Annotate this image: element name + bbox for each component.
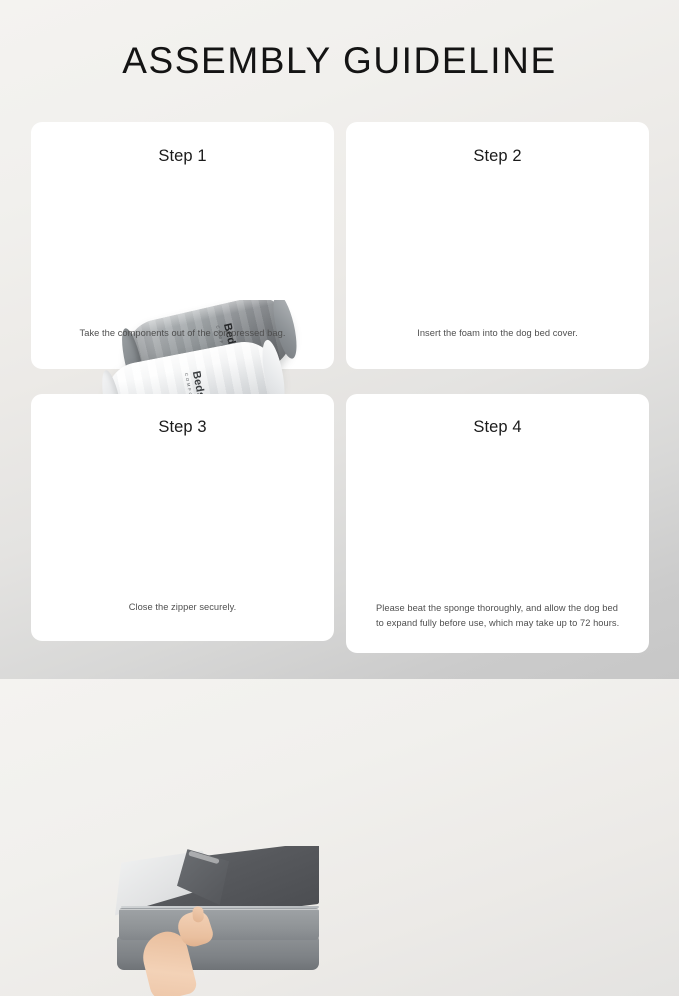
bed-side-panel xyxy=(119,908,319,940)
step-card-2: Step 2 Insert the foam into the dog bed … xyxy=(346,122,649,369)
step-3-caption: Close the zipper securely. xyxy=(45,600,320,615)
step-1-title: Step 1 xyxy=(31,147,334,166)
step-1-caption: Take the components out of the compresse… xyxy=(45,326,320,341)
step-4-caption: Please beat the sponge thoroughly, and a… xyxy=(376,601,624,631)
step-4-title: Step 4 xyxy=(346,418,649,437)
zipper-line xyxy=(121,906,319,908)
page-title: ASSEMBLY GUIDELINE xyxy=(0,40,679,82)
close-zipper-illustration xyxy=(93,846,333,996)
step-card-4: Step 4 Please beat the sponge thoroughly… xyxy=(346,394,649,653)
step-card-3: Step 3 Close the zipper securely. xyxy=(31,394,334,641)
step-3-title: Step 3 xyxy=(31,418,334,437)
step-2-caption: Insert the foam into the dog bed cover. xyxy=(360,326,635,341)
step-2-title: Step 2 xyxy=(346,147,649,166)
step-card-1: Step 1 Bedsure COMFORT Bedsure COMFORT T… xyxy=(31,122,334,369)
assembly-guideline-page: ASSEMBLY GUIDELINE Step 1 Bedsure COMFOR… xyxy=(0,0,679,679)
